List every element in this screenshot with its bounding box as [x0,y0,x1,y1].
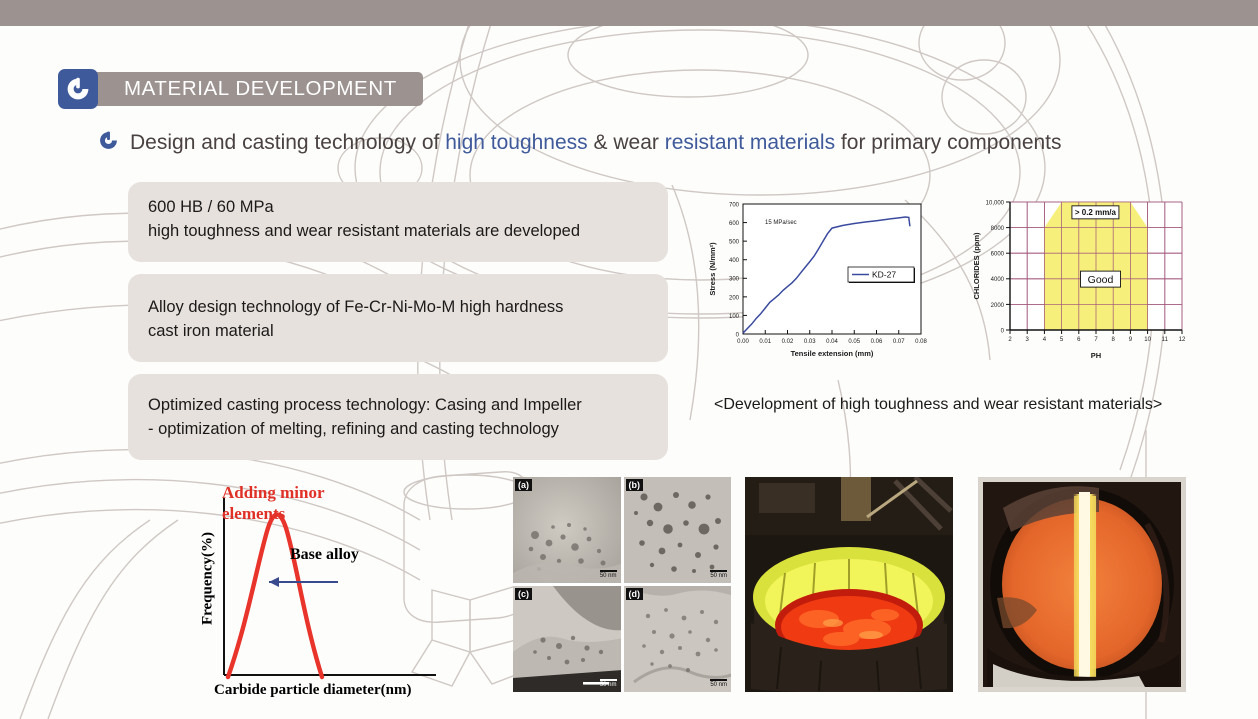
svg-text:Good: Good [1088,274,1114,286]
subtitle-seg-1: Design and casting technology of [130,131,445,154]
svg-text:700: 700 [729,202,740,208]
tem-scale-text: 50 nm [710,573,727,579]
svg-text:300: 300 [729,277,740,283]
svg-text:10: 10 [1144,337,1151,343]
tem-scale-bar: 50 nm [600,679,617,688]
svg-text:100: 100 [729,314,740,320]
adding-minor-elements-label: Adding minor elements [222,482,325,525]
subtitle-seg-5: for primary components [835,131,1061,154]
tem-scale-bar: 50 nm [710,570,727,579]
svg-text:0.03: 0.03 [804,339,816,345]
slide-canvas: MATERIAL DEVELOPMENT Design and casting … [0,0,1258,719]
svg-text:400: 400 [729,258,740,264]
callout-box-list: 600 HB / 60 MPa high toughness and wear … [128,182,668,472]
svg-text:6: 6 [1077,337,1081,343]
tem-scale-text: 50 nm [600,573,617,579]
svg-text:3: 3 [1026,337,1030,343]
svg-text:9: 9 [1129,337,1133,343]
svg-text:> 0.2 mm/a: > 0.2 mm/a [1075,208,1117,217]
svg-text:0.06: 0.06 [871,339,883,345]
svg-text:Stress (N/mm²): Stress (N/mm²) [708,242,717,296]
tem-panel-label: (c) [515,588,532,600]
tem-scale-bar: 50 nm [600,570,617,579]
tem-panel: (c) 50 nm [513,586,621,692]
subtitle-bullet-icon [98,130,119,156]
callout-line: Alloy design technology of Fe-Cr-Ni-Mo-M… [148,296,648,320]
svg-text:CHLORIDES (ppm): CHLORIDES (ppm) [972,232,981,300]
callout-line: Optimized casting process technology: Ca… [148,394,648,418]
svg-text:0.08: 0.08 [915,339,927,345]
callout-line: high toughness and wear resistant materi… [148,220,648,244]
svg-text:Tensile extension (mm): Tensile extension (mm) [791,349,874,358]
svg-text:200: 200 [729,295,740,301]
svg-text:8: 8 [1112,337,1116,343]
base-alloy-label: Base alloy [290,546,359,564]
callout-box: 600 HB / 60 MPa high toughness and wear … [128,182,668,262]
svg-text:0.00: 0.00 [737,339,749,345]
svg-text:10,000: 10,000 [986,200,1005,206]
svg-text:0: 0 [736,332,740,338]
callout-line: 600 HB / 60 MPa [148,196,648,220]
furnace-interior-photo [978,477,1186,692]
svg-text:0.07: 0.07 [893,339,905,345]
page-title: MATERIAL DEVELOPMENT [124,77,397,101]
svg-text:0: 0 [1001,328,1005,334]
svg-text:11: 11 [1162,337,1169,343]
svg-text:15 MPa/sec: 15 MPa/sec [765,220,797,226]
page-header: MATERIAL DEVELOPMENT [58,70,423,108]
svg-text:KD-27: KD-27 [872,270,896,280]
svg-text:0.05: 0.05 [848,339,860,345]
svg-text:2000: 2000 [991,303,1005,309]
charts-caption: <Development of high toughness and wear … [714,396,1162,414]
svg-text:2: 2 [1008,337,1012,343]
svg-text:0.01: 0.01 [759,339,771,345]
tem-panel: (b) 50 nm [624,477,732,583]
callout-line: cast iron material [148,320,648,344]
subtitle-seg-3: & wear [588,131,665,154]
stress-strain-chart: 01002003004005006007000.000.010.020.030.… [703,188,935,376]
tem-panel: (a) 50 nm [513,477,621,583]
company-c-logo-icon [58,69,98,109]
callout-box: Alloy design technology of Fe-Cr-Ni-Mo-M… [128,274,668,362]
tem-scale-bar: 50 nm [710,679,727,688]
svg-text:4000: 4000 [991,277,1005,283]
header-title-bar: MATERIAL DEVELOPMENT [92,72,423,106]
carbide-distribution-diagram: Adding minor elements Base alloy Carbide… [186,470,476,710]
bell-x-axis-label: Carbide particle diameter(nm) [214,682,411,699]
svg-text:0.02: 0.02 [782,339,794,345]
bell-y-axis-label: Frequency(%) [200,509,217,649]
svg-text:8000: 8000 [991,226,1005,232]
callout-box: Optimized casting process technology: Ca… [128,374,668,460]
tem-scale-text: 50 nm [710,682,727,688]
subtitle-highlight-1: high toughness [445,131,587,154]
svg-text:500: 500 [729,240,740,246]
molten-metal-ladle-photo [745,477,953,692]
chlorides-ph-chart: 0200040006000800010,00023456789101112> 0… [968,188,1196,376]
callout-line: - optimization of melting, refining and … [148,418,648,442]
svg-text:600: 600 [729,221,740,227]
top-accent-bar [0,0,1258,26]
svg-text:5: 5 [1060,337,1064,343]
tem-panel-label: (b) [626,479,644,491]
svg-text:PH: PH [1091,351,1101,360]
svg-text:12: 12 [1179,337,1186,343]
tem-panel-label: (a) [515,479,532,491]
tem-panel-label: (d) [626,588,644,600]
label-line-2: elements [222,504,285,523]
svg-text:6000: 6000 [991,252,1005,258]
subtitle-row: Design and casting technology of high to… [98,130,1062,156]
tem-micrograph-grid: (a) 50 nm (b) 50 nm [513,477,731,692]
tem-panel: (d) 50 nm [624,586,732,692]
svg-text:7: 7 [1094,337,1098,343]
svg-text:4: 4 [1043,337,1047,343]
tem-scale-text: 50 nm [600,682,617,688]
subtitle-text: Design and casting technology of high to… [130,131,1062,155]
subtitle-highlight-2: resistant materials [665,131,835,154]
label-line-1: Adding minor [222,483,325,502]
svg-text:0.04: 0.04 [826,339,838,345]
